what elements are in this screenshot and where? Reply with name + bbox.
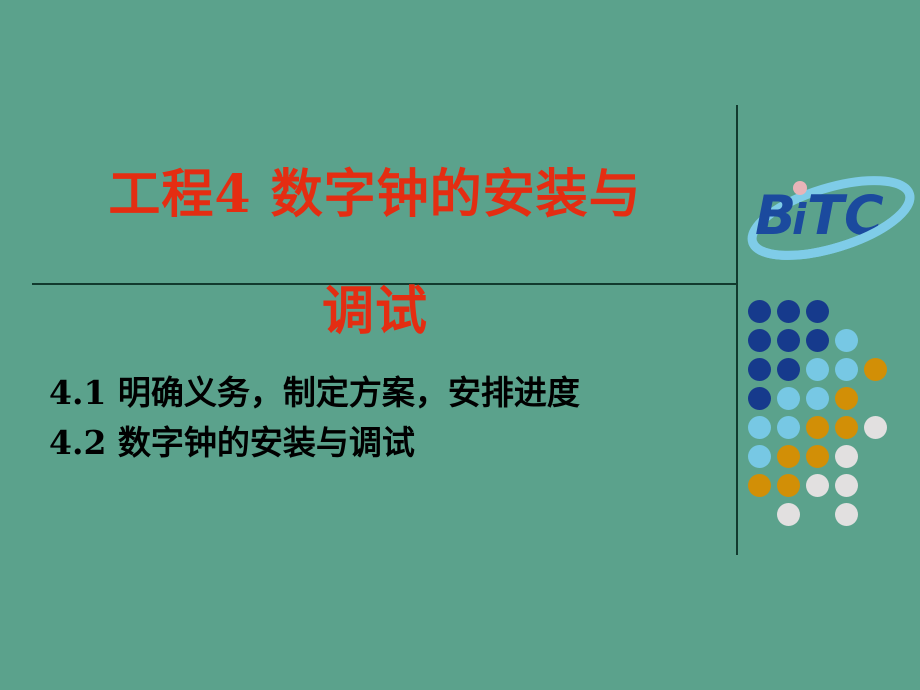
decorative-dot-matrix — [748, 300, 920, 550]
dot-row — [748, 416, 920, 445]
dot-row — [748, 329, 920, 358]
dot — [864, 416, 887, 439]
dot-row — [748, 387, 920, 416]
dot-row — [748, 300, 920, 329]
svg-text:T: T — [807, 184, 848, 247]
dot — [806, 416, 829, 439]
dot — [748, 329, 771, 352]
dot — [748, 358, 771, 381]
agenda-item-4-2: 4.2 数字钟的安装与调试 — [49, 418, 729, 468]
dot — [835, 503, 858, 526]
dot — [806, 329, 829, 352]
dot — [835, 416, 858, 439]
dot — [835, 445, 858, 468]
slide-title-line-1: 工程4 数字钟的安装与 — [30, 166, 720, 224]
dot — [835, 387, 858, 410]
slide-title: 工程4 数字钟的安装与 调试 — [30, 108, 720, 399]
agenda-list: 4.1 明确义务，制定方案，安排进度 4.2 数字钟的安装与调试 — [49, 368, 729, 467]
dot — [748, 416, 771, 439]
dot-row — [748, 445, 920, 474]
dot — [777, 358, 800, 381]
dot — [777, 445, 800, 468]
dot — [777, 474, 800, 497]
dot — [777, 300, 800, 323]
agenda-item-4-1: 4.1 明确义务，制定方案，安排进度 — [49, 368, 729, 418]
logo-i-dot-icon — [793, 181, 807, 195]
dot — [748, 474, 771, 497]
dot — [806, 358, 829, 381]
dot — [806, 300, 829, 323]
dot-row — [748, 358, 920, 387]
dot — [748, 387, 771, 410]
dot — [806, 474, 829, 497]
dot — [777, 387, 800, 410]
dot — [835, 474, 858, 497]
dot — [835, 358, 858, 381]
vertical-divider — [736, 105, 738, 555]
dot — [748, 445, 771, 468]
dot-row — [748, 503, 920, 532]
slide-title-line-2: 调试 — [30, 283, 720, 341]
dot-row — [748, 474, 920, 503]
dot — [777, 416, 800, 439]
presentation-slide: 工程4 数字钟的安装与 调试 4.1 明确义务，制定方案，安排进度 4.2 数字… — [0, 0, 920, 690]
svg-text:B: B — [755, 184, 796, 247]
dot — [748, 300, 771, 323]
bitc-logo: B i T C — [745, 168, 917, 268]
dot — [806, 387, 829, 410]
svg-text:i: i — [792, 195, 807, 244]
dot — [835, 329, 858, 352]
dot — [777, 503, 800, 526]
dot — [806, 445, 829, 468]
dot — [864, 358, 887, 381]
dot — [777, 329, 800, 352]
